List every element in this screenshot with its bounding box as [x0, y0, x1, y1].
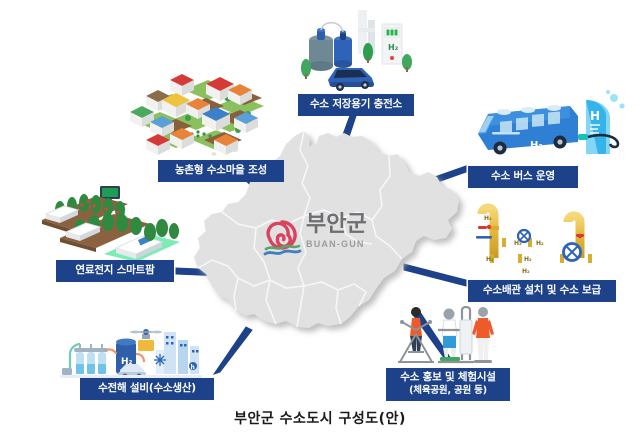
tree-icon — [301, 59, 311, 79]
callout-label-rural-hydrogen-village[interactable]: 농촌형 수소마을 조성 — [158, 160, 284, 182]
city-skyline-icon: h — [156, 332, 199, 374]
label-subtext: (체육공원, 공원 등) — [392, 384, 504, 397]
callout-label-hydrogen-promotion-facility[interactable]: 수소 홍보 및 체험시설 (체육공원, 공원 등) — [386, 368, 510, 401]
infographic-canvas: 부안군 BUAN-GUN H₂ — [0, 0, 640, 442]
storage-tank-icon — [309, 28, 333, 71]
tree-icon-3 — [402, 54, 412, 72]
electrolysis-plant-illustration: h H₂ — [60, 324, 202, 382]
label-text: 수소 저장용기 충전소 — [310, 98, 402, 110]
label-text: 수소배관 설치 및 수소 보급 — [483, 284, 601, 296]
svg-text:H₂: H₂ — [484, 215, 492, 222]
callout-label-hydrogen-pipeline-supply[interactable]: 수소배관 설치 및 수소 보급 — [468, 280, 616, 302]
callout-label-water-electrolysis-facility[interactable]: 수전해 설비(수소생산) — [80, 378, 214, 400]
svg-text:h: h — [191, 364, 195, 371]
hydrogen-bus-illustration: H₂ H — [474, 88, 634, 166]
svg-text:H₂: H₂ — [530, 140, 543, 151]
callout-label-hydrogen-bus-operation[interactable]: 수소 버스 운영 — [468, 166, 578, 188]
svg-text:H₂: H₂ — [524, 256, 532, 263]
storage-tank-icon-2 — [334, 30, 352, 68]
figure-caption: 부안군 수소도시 구성도(안) — [0, 408, 640, 428]
callout-label-hydrogen-charging-station[interactable]: 수소 저장용기 충전소 — [298, 94, 414, 116]
spiral-icon — [268, 222, 295, 248]
person-exercising-icon — [398, 304, 434, 362]
tree-icon-2 — [363, 43, 373, 63]
label-text: 수소 홍보 및 체험시설 — [400, 371, 496, 383]
person-standing-icon — [472, 307, 494, 363]
smart-farm-illustration — [38, 186, 184, 262]
logo-english-name: BUAN-GUN — [306, 239, 384, 250]
label-text: 연료전지 스마트팜 — [75, 264, 154, 276]
label-text: 농촌형 수소마을 조성 — [175, 164, 267, 176]
exercise-park-illustration — [386, 300, 502, 368]
callout-label-fuel-cell-smart-farm[interactable]: 연료전지 스마트팜 — [56, 260, 174, 282]
electrolysis-cells-icon — [74, 344, 108, 374]
hydrogen-pipeline-illustration: H₂ H₂ H₂ H₂ H₂ H₂ H₂ — [468, 196, 634, 282]
bus-icon: H₂ — [478, 105, 578, 155]
wave-icon — [265, 246, 300, 254]
isometric-village-illustration — [128, 60, 272, 160]
buan-gun-logo: 부안군 BUAN-GUN — [262, 212, 382, 266]
label-text: 수전해 설비(수소생산) — [98, 382, 196, 394]
car-icon — [328, 68, 374, 91]
svg-text:H₂: H₂ — [486, 256, 494, 263]
hydrogen-charger-icon: H — [578, 90, 625, 154]
svg-text:H₂: H₂ — [536, 240, 544, 247]
svg-text:H: H — [590, 109, 600, 123]
label-text: 수소 버스 운영 — [491, 170, 555, 182]
logo-korean-name: 부안군 — [306, 212, 384, 238]
hydrogen-charging-station-illustration: H₂ — [296, 6, 416, 92]
buan-gun-logo-text: 부안군 BUAN-GUN — [306, 212, 384, 250]
buan-gun-logo-mark — [262, 216, 302, 260]
svg-text:H₂: H₂ — [522, 268, 530, 275]
svg-text:H₂: H₂ — [388, 43, 399, 52]
